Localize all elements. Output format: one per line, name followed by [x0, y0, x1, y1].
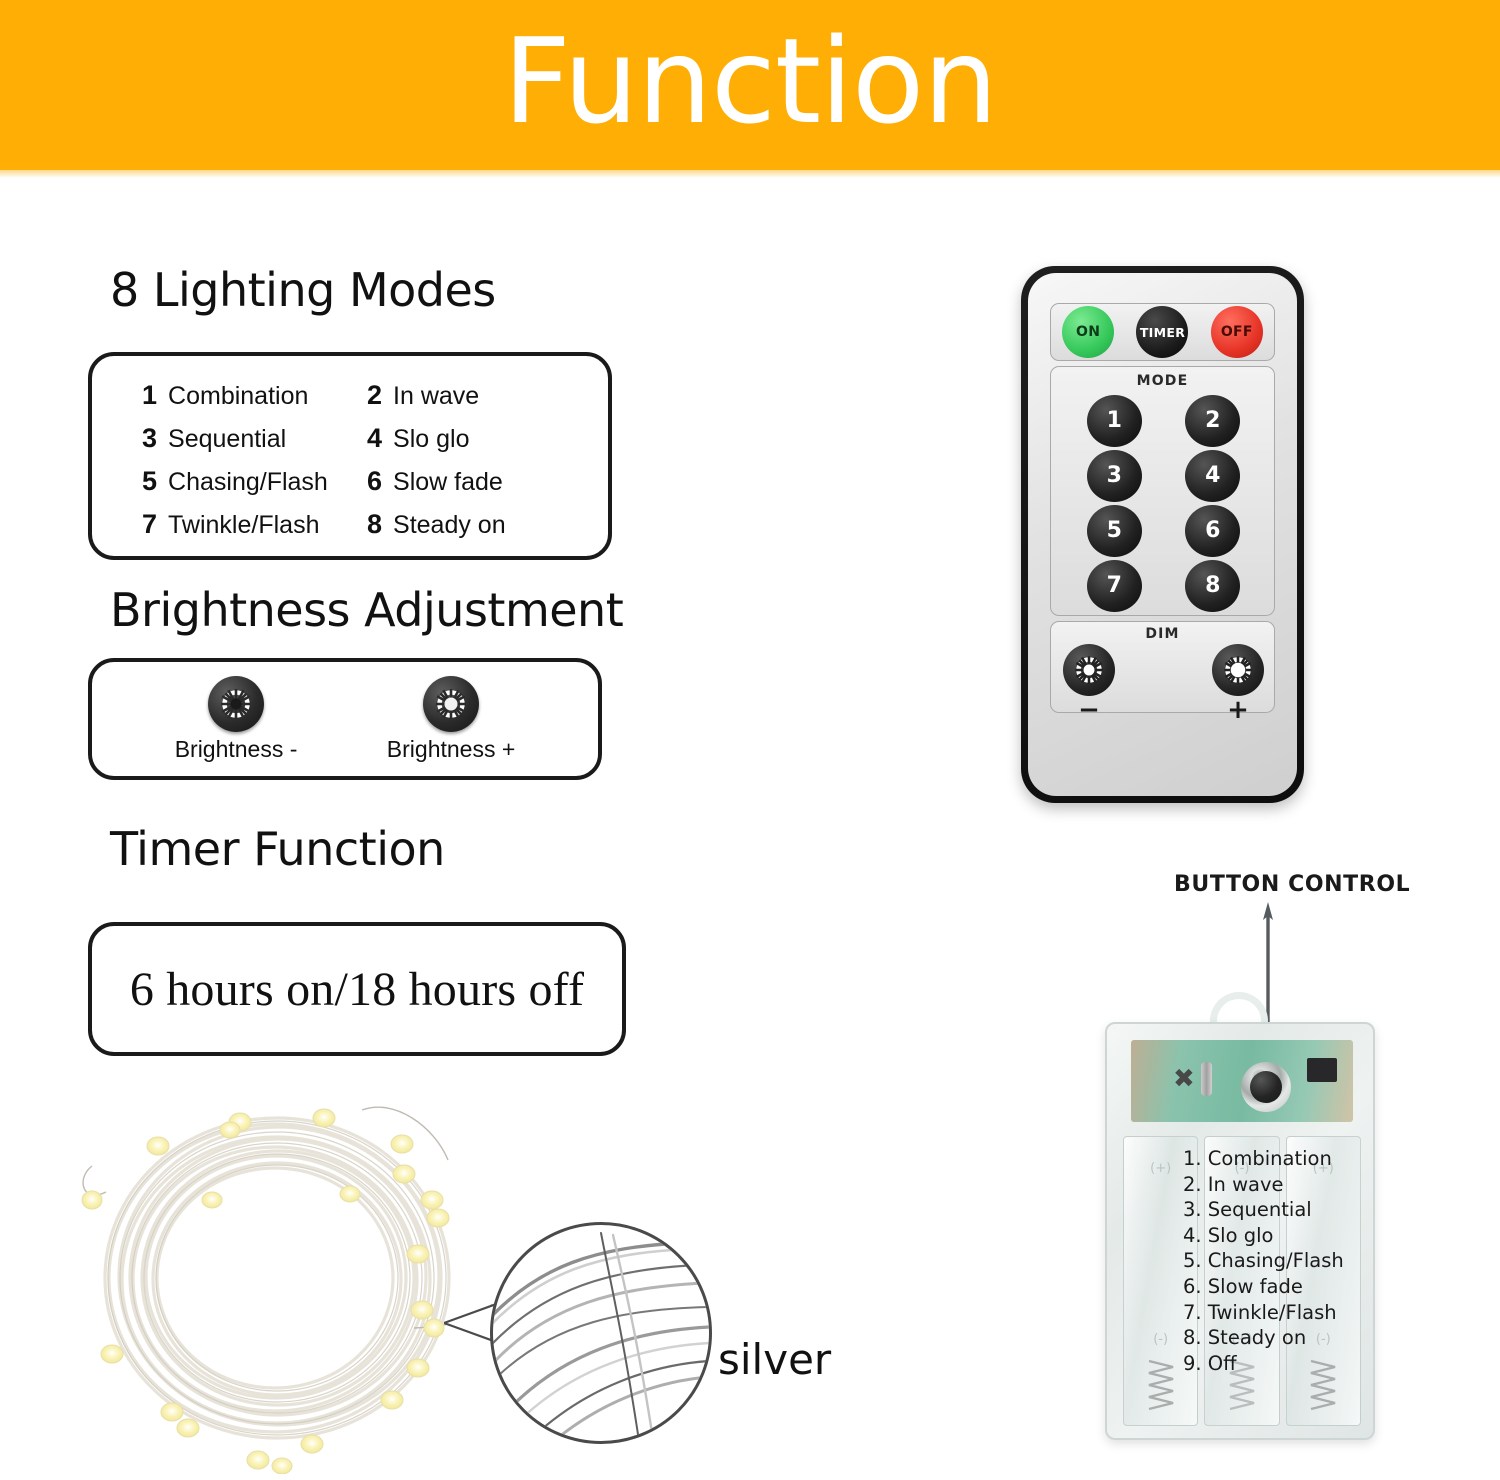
polarity-mark: (+) — [1150, 1161, 1171, 1176]
battery-mode-item: 3. Sequential — [1183, 1197, 1373, 1223]
mode-number: 2 — [367, 380, 382, 411]
remote-mode-button-6[interactable]: 6 — [1185, 505, 1240, 557]
remote-off-button[interactable]: OFF — [1211, 306, 1263, 358]
banner-fade-divider — [0, 170, 1500, 178]
remote-on-button[interactable]: ON — [1062, 306, 1114, 358]
lighting-modes-grid: 1 Combination 2 In wave 3 Sequential 4 S… — [142, 374, 592, 546]
capacitor-icon — [1201, 1062, 1212, 1096]
mode-label: Twinkle/Flash — [168, 511, 319, 540]
remote-dim-caption: DIM — [1051, 626, 1274, 642]
lighting-modes-box: 1 Combination 2 In wave 3 Sequential 4 S… — [88, 352, 612, 560]
remote-dim-row: − — [1063, 644, 1264, 723]
mode-label: Chasing/Flash — [168, 468, 328, 497]
remote-power-panel: ON TIMER OFF — [1050, 303, 1275, 361]
battery-mode-item: 1. Combination — [1183, 1146, 1373, 1172]
mode-row: 6 Slow fade — [367, 466, 592, 497]
mode-number: 3 — [142, 423, 157, 454]
remote-mode-panel: MODE 1 2 3 4 5 6 7 8 — [1050, 366, 1275, 616]
remote-dim-down-item: − — [1063, 644, 1115, 723]
button-control-label: BUTTON CONTROL — [1174, 872, 1410, 897]
remote-mode-caption: MODE — [1051, 373, 1274, 389]
brightness-minus-label: Brightness - — [175, 736, 298, 763]
brightness-row: Brightness - — [92, 662, 598, 776]
battery-box-mode-list: 1. Combination 2. In wave 3. Sequential … — [1183, 1146, 1373, 1376]
chip-icon — [1307, 1058, 1337, 1082]
silver-callout-label: silver — [718, 1335, 831, 1384]
remote-mode-button-3[interactable]: 3 — [1087, 450, 1142, 502]
brightness-plus-label: Brightness + — [387, 736, 516, 763]
mode-number: 4 — [367, 423, 382, 454]
mode-label: In wave — [393, 382, 479, 411]
timer-box: 6 hours on/18 hours off — [88, 922, 626, 1056]
remote-dim-up-item: + — [1212, 644, 1264, 723]
page-title: Function — [0, 0, 1500, 170]
silver-wire-magnifier — [490, 1222, 712, 1444]
remote-face: ON TIMER OFF MODE 1 2 3 4 5 6 7 8 DIM — [1028, 273, 1297, 796]
brightness-down-sun-icon — [208, 676, 264, 732]
mode-number: 1 — [142, 380, 157, 411]
mode-label: Sequential — [168, 425, 286, 454]
battery-spring-icon — [1146, 1357, 1176, 1411]
polarity-mark: (-) — [1153, 1332, 1168, 1347]
mode-number: 7 — [142, 509, 157, 540]
battery-box: ✖ (+) (-) (-) (+) (+) (-) — [1105, 1022, 1375, 1440]
mode-number: 8 — [367, 509, 382, 540]
remote-mode-button-7[interactable]: 7 — [1087, 560, 1142, 612]
coil-symbol-icon: ✖ — [1173, 1066, 1199, 1092]
mode-row: 3 Sequential — [142, 423, 367, 454]
string-light-coil — [62, 1082, 492, 1474]
silver-wire-strands — [493, 1225, 709, 1441]
brightness-minus-item: Brightness - — [175, 676, 298, 763]
battery-mode-item: 6. Slow fade — [1183, 1274, 1373, 1300]
battery-mode-item: 9. Off — [1183, 1351, 1373, 1377]
battery-mode-item: 8. Steady on — [1183, 1325, 1373, 1351]
mode-label: Slo glo — [393, 425, 469, 454]
mode-label: Slow fade — [393, 468, 503, 497]
mode-row: 1 Combination — [142, 380, 367, 411]
remote-mode-button-4[interactable]: 4 — [1185, 450, 1240, 502]
remote-timer-button[interactable]: TIMER — [1136, 306, 1188, 358]
mode-label: Combination — [168, 382, 308, 411]
mode-row: 7 Twinkle/Flash — [142, 509, 367, 540]
remote-power-row: ON TIMER OFF — [1051, 304, 1274, 360]
remote-mode-button-grid: 1 2 3 4 5 6 7 8 — [1065, 393, 1262, 613]
battery-mode-item: 5. Chasing/Flash — [1183, 1248, 1373, 1274]
battery-mode-item: 2. In wave — [1183, 1172, 1373, 1198]
remote-dim-down-sun-icon[interactable] — [1063, 644, 1115, 696]
battery-mode-item: 4. Slo glo — [1183, 1223, 1373, 1249]
brightness-box: Brightness - — [88, 658, 602, 780]
remote-dim-down-sign: − — [1078, 697, 1100, 723]
timer-value: 6 hours on/18 hours off — [92, 926, 622, 1052]
remote-dim-up-sign: + — [1227, 697, 1249, 723]
mode-row: 2 In wave — [367, 380, 592, 411]
remote-mode-button-8[interactable]: 8 — [1185, 560, 1240, 612]
mode-number: 6 — [367, 466, 382, 497]
control-button-cap — [1250, 1071, 1282, 1103]
mode-label: Steady on — [393, 511, 506, 540]
mode-row: 5 Chasing/Flash — [142, 466, 367, 497]
battery-mode-item: 7. Twinkle/Flash — [1183, 1300, 1373, 1326]
brightness-plus-item: Brightness + — [387, 676, 516, 763]
remote-control: ON TIMER OFF MODE 1 2 3 4 5 6 7 8 DIM — [1021, 266, 1304, 803]
control-button[interactable] — [1241, 1062, 1291, 1112]
brightness-heading: Brightness Adjustment — [110, 583, 623, 637]
brightness-up-sun-icon — [423, 676, 479, 732]
remote-mode-button-2[interactable]: 2 — [1185, 395, 1240, 447]
remote-dim-panel: DIM — [1050, 621, 1275, 713]
remote-dim-up-sun-icon[interactable] — [1212, 644, 1264, 696]
remote-mode-button-1[interactable]: 1 — [1087, 395, 1142, 447]
battery-box-circuit-board: ✖ — [1131, 1040, 1353, 1122]
timer-heading: Timer Function — [110, 822, 445, 876]
mode-row: 4 Slo glo — [367, 423, 592, 454]
lighting-modes-heading: 8 Lighting Modes — [110, 263, 496, 317]
mode-row: 8 Steady on — [367, 509, 592, 540]
page-header-banner: Function — [0, 0, 1500, 170]
mode-number: 5 — [142, 466, 157, 497]
remote-mode-button-5[interactable]: 5 — [1087, 505, 1142, 557]
